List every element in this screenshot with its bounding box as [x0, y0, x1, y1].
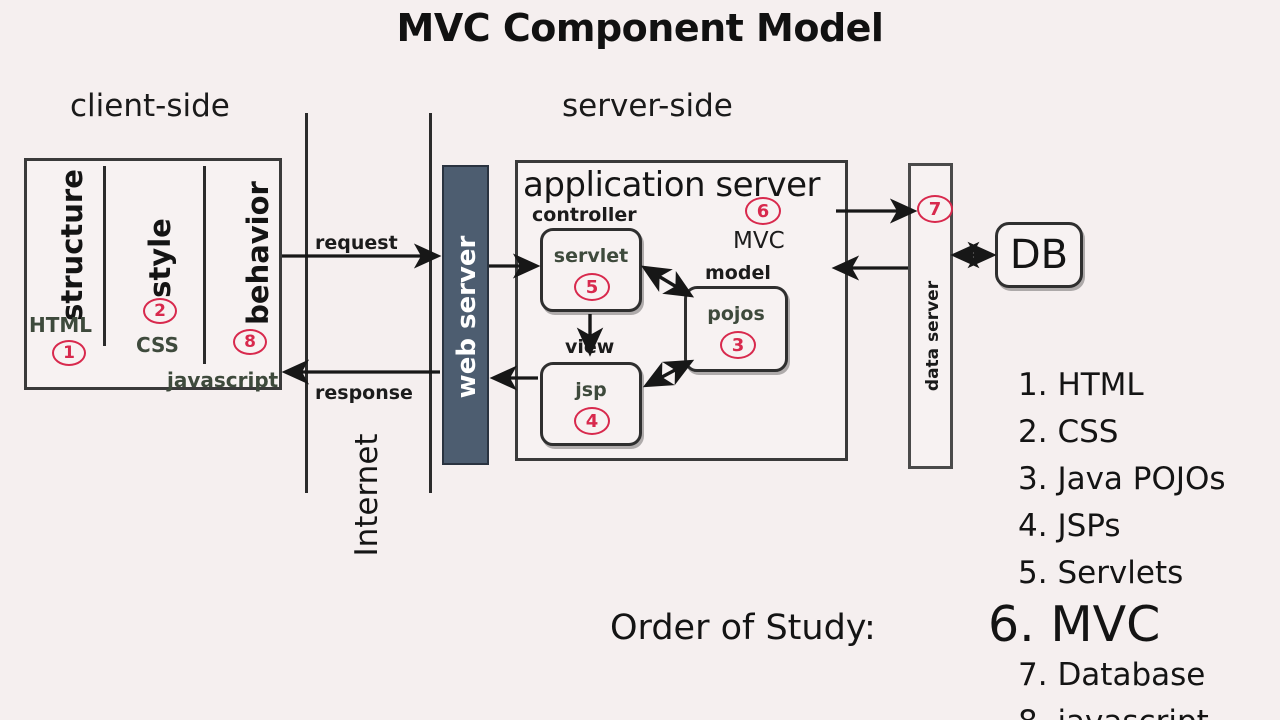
client-column-divider-2: [203, 166, 206, 364]
list-item-text: HTML: [1057, 367, 1143, 403]
page-title: MVC Component Model: [0, 6, 1280, 50]
list-item-text: Servlets: [1057, 555, 1183, 591]
list-item: 7. Database: [1018, 652, 1226, 699]
model-label: model: [705, 262, 771, 284]
list-item: 4. JSPs: [1018, 503, 1226, 550]
list-item-text: Database: [1057, 657, 1205, 693]
client-tech-html: HTML: [29, 313, 92, 337]
server-side-label: server-side: [562, 88, 733, 124]
request-label: request: [315, 232, 398, 254]
list-item-text: javascript: [1057, 704, 1208, 720]
internet-label: Internet: [349, 433, 385, 556]
jsp-box: jsp 4: [540, 362, 642, 446]
list-item-number: 3.: [1018, 461, 1048, 497]
client-tech-css: CSS: [136, 333, 179, 357]
order-badge-mvc: 6: [745, 197, 781, 225]
response-label: response: [315, 382, 413, 404]
data-server-label: data server: [923, 281, 943, 391]
list-item-number: 8.: [1018, 704, 1048, 720]
list-item-number: 4.: [1018, 508, 1048, 544]
controller-label: controller: [532, 204, 637, 226]
list-item: 3. Java POJOs: [1018, 456, 1226, 503]
list-item: 5. Servlets: [1018, 550, 1226, 597]
client-column-divider-1: [103, 166, 106, 346]
web-server-box: web server: [442, 165, 489, 465]
list-item: 2. CSS: [1018, 409, 1226, 456]
order-badge-servlet: 5: [574, 273, 610, 301]
jsp-label: jsp: [543, 379, 639, 401]
client-column-label-structure: structure: [55, 169, 89, 321]
list-item-number: 5.: [1018, 555, 1048, 591]
order-badge-pojos: 3: [720, 331, 756, 359]
list-item-text: JSPs: [1057, 508, 1120, 544]
db-box: DB: [995, 222, 1083, 288]
order-of-study-list: 1. HTML 2. CSS 3. Java POJOs 4. JSPs 5. …: [1018, 362, 1226, 720]
client-side-label: client-side: [70, 88, 230, 124]
list-item: 1. HTML: [1018, 362, 1226, 409]
internet-boundary-right: [429, 113, 432, 493]
list-item-number: 7.: [1018, 657, 1048, 693]
list-item-number: 6.: [988, 596, 1035, 653]
order-badge-html: 1: [52, 340, 86, 366]
list-item-text: Java POJOs: [1057, 461, 1225, 497]
application-server-title: application server: [523, 165, 820, 205]
order-badge-javascript: 8: [233, 329, 267, 355]
internet-boundary-left: [305, 113, 308, 493]
pojos-box: pojos 3: [684, 286, 788, 372]
servlet-box: servlet 5: [540, 228, 642, 312]
order-badge-css: 2: [143, 298, 177, 324]
client-tech-javascript: javascript: [167, 368, 278, 392]
list-item-text: CSS: [1057, 414, 1118, 450]
list-item: 8. javascript: [1018, 699, 1226, 720]
list-item-mvc: 6. MVC: [988, 597, 1226, 652]
order-badge-jsp: 4: [574, 407, 610, 435]
list-item-number: 2.: [1018, 414, 1048, 450]
list-item-text: MVC: [1050, 596, 1160, 653]
view-label: view: [565, 336, 614, 358]
order-badge-database: 7: [917, 195, 953, 223]
servlet-label: servlet: [543, 245, 639, 267]
diagram-canvas: MVC Component Model client-side server-s…: [0, 0, 1280, 720]
client-column-label-behavior: behavior: [241, 181, 275, 325]
client-column-label-style: style: [143, 218, 177, 298]
list-item-number: 1.: [1018, 367, 1048, 403]
pojos-label: pojos: [687, 303, 785, 325]
web-server-label: web server: [452, 236, 482, 399]
mvc-label: MVC: [733, 228, 785, 254]
order-of-study-heading: Order of Study:: [610, 608, 876, 648]
